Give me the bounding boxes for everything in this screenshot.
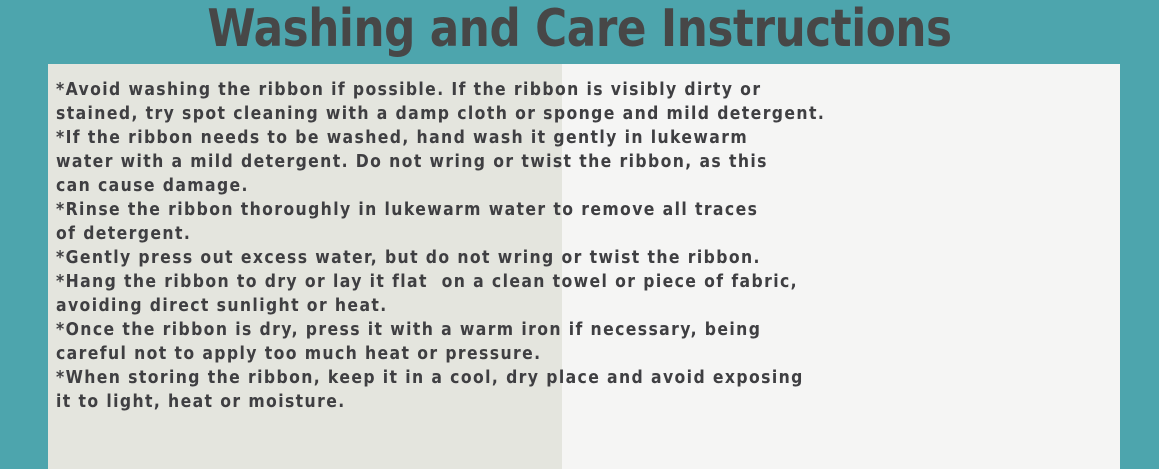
- list-item: stained, try spot cleaning with a damp c…: [56, 102, 1008, 126]
- list-item: *Avoid washing the ribbon if possible. I…: [56, 78, 1008, 102]
- care-instructions-list: *Avoid washing the ribbon if possible. I…: [56, 78, 1008, 414]
- list-item: water with a mild detergent. Do not wrin…: [56, 150, 1008, 174]
- list-item: *Rinse the ribbon thoroughly in lukewarm…: [56, 198, 1008, 222]
- list-item: careful not to apply too much heat or pr…: [56, 342, 1008, 366]
- list-item: can cause damage.: [56, 174, 1008, 198]
- poster-canvas: Washing and Care Instructions *Avoid was…: [0, 0, 1159, 469]
- list-item: *Gently press out excess water, but do n…: [56, 246, 1008, 270]
- list-item: avoiding direct sunlight or heat.: [56, 294, 1008, 318]
- list-item: *When storing the ribbon, keep it in a c…: [56, 366, 1008, 390]
- page-title: Washing and Care Instructions: [93, 0, 1067, 60]
- list-item: *Once the ribbon is dry, press it with a…: [56, 318, 1008, 342]
- list-item: *Hang the ribbon to dry or lay it flat o…: [56, 270, 1008, 294]
- list-item: *If the ribbon needs to be washed, hand …: [56, 126, 1008, 150]
- list-item: of detergent.: [56, 222, 1008, 246]
- list-item: it to light, heat or moisture.: [56, 390, 1008, 414]
